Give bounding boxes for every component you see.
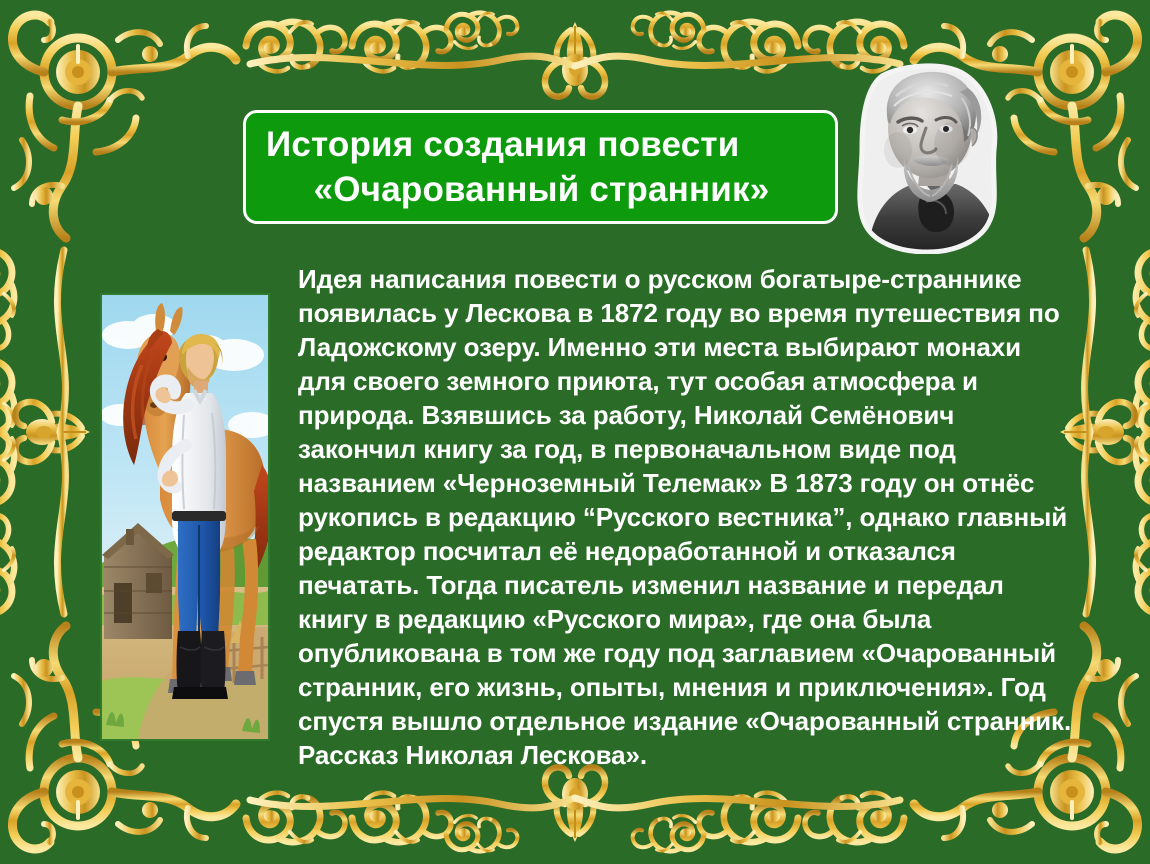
body-line: рукопись в редакцию “Русского вестника”,… — [298, 500, 1060, 534]
body-line: странник, его жизнь, опыты, мнения и при… — [298, 670, 1060, 704]
body-line: природа. Взявшись за работу, Николай Сем… — [298, 398, 1060, 432]
body-line: Ладожскому озеру. Именно эти места выбир… — [298, 330, 1060, 364]
body-line: опубликована в том же году под заглавием… — [298, 636, 1060, 670]
title-line-1: История создания повести — [266, 122, 817, 167]
body-line: названием «Черноземный Телемак» В 1873 г… — [298, 466, 1060, 500]
body-line: закончил книгу за год, в первоначальном … — [298, 432, 1060, 466]
border-rail-top — [246, 13, 904, 97]
title-line-2: «Очарованный странник» — [266, 167, 817, 212]
body-text-block: Идея написания повести о русском богатыр… — [298, 262, 1060, 772]
border-rail-bottom — [246, 767, 904, 851]
corner-ornament-top-left — [12, 15, 236, 238]
slide-title-plate: История создания повести «Очарованный ст… — [243, 110, 838, 224]
body-line: Рассказ Николая Лескова». — [298, 738, 1060, 772]
border-rail-right — [1060, 250, 1150, 614]
body-line: для своего земного приюта, тут особая ат… — [298, 364, 1060, 398]
body-line: печатать. Тогда писатель изменил названи… — [298, 568, 1060, 602]
portrait-nikolai-leskov — [852, 62, 1014, 254]
border-rail-left — [0, 250, 90, 614]
body-line: появилась у Лескова в 1872 году во время… — [298, 296, 1060, 330]
body-line: Идея написания повести о русском богатыр… — [298, 262, 1060, 296]
illustration-man-with-horse — [100, 293, 270, 741]
body-line: книгу в редакцию «Русского мира», где он… — [298, 602, 1060, 636]
presentation-slide: История создания повести «Очарованный ст… — [0, 0, 1150, 864]
body-line: редактор посчитал её недоработанной и от… — [298, 534, 1060, 568]
body-line: спустя вышло отдельное издание «Очарован… — [298, 704, 1060, 738]
